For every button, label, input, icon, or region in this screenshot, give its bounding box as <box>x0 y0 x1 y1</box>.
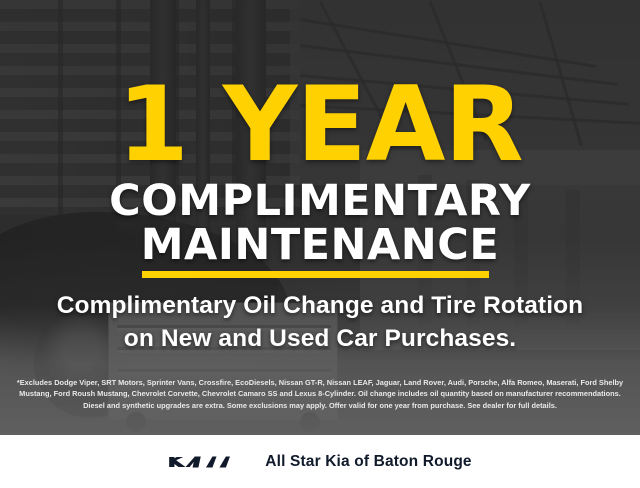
yellow-divider-rule <box>142 271 489 278</box>
promotional-banner: 1 YEAR COMPLIMENTARY MAINTENANCE Complim… <box>0 0 640 488</box>
hero-section: 1 YEAR COMPLIMENTARY MAINTENANCE Complim… <box>0 0 640 435</box>
dealer-name: All Star Kia of Baton Rouge <box>265 453 471 471</box>
headline-secondary: COMPLIMENTARY MAINTENANCE <box>0 180 640 268</box>
subheadline-line-2: on New and Used Car Purchases. <box>0 323 640 356</box>
kia-logo <box>168 452 244 472</box>
headline-secondary-line-2: MAINTENANCE <box>0 224 640 268</box>
headline-primary: 1 YEAR <box>0 74 640 177</box>
disclaimer-line-3: Diesel and synthetic upgrades are extra.… <box>14 400 626 411</box>
subheadline-line-1: Complimentary Oil Change and Tire Rotati… <box>57 292 583 319</box>
disclaimer-line-1: *Excludes Dodge Viper, SRT Motors, Sprin… <box>14 377 626 388</box>
dealer-footer: All Star Kia of Baton Rouge <box>0 435 640 488</box>
disclaimer-line-2: Mustang, Ford Roush Mustang, Chevrolet C… <box>14 388 626 399</box>
headline-secondary-line-1: COMPLIMENTARY <box>109 176 531 226</box>
disclaimer-fine-print: *Excludes Dodge Viper, SRT Motors, Sprin… <box>14 377 626 411</box>
ad-copy: 1 YEAR COMPLIMENTARY MAINTENANCE Complim… <box>0 0 640 435</box>
subheadline: Complimentary Oil Change and Tire Rotati… <box>0 290 640 355</box>
